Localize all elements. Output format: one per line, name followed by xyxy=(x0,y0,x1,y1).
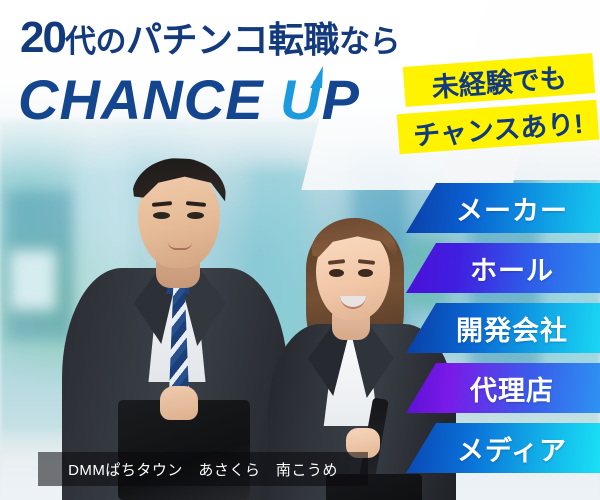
tag-label: 開発会社 xyxy=(456,309,568,348)
tag-label: メディア xyxy=(457,429,567,468)
logo-text-chance: CHANCE xyxy=(18,68,280,131)
chance-up-logo: CHANCE UP xyxy=(18,72,360,128)
background-shape xyxy=(10,250,56,310)
recruitment-banner[interactable]: 20代のパチンコ転職なら CHANCE UP 未経験でも チャンスあり! メーカ… xyxy=(0,0,600,500)
credit-text: DMMぱちタウン あさくら 南こうめ xyxy=(68,459,338,480)
eye-right xyxy=(187,212,204,219)
category-tag-list: メーカー ホール 開発会社 代理店 メディア xyxy=(406,183,600,483)
tag-agency[interactable]: 代理店 xyxy=(406,363,600,413)
businessman-photo xyxy=(60,150,290,500)
headline-suffix: 代の xyxy=(65,24,126,59)
tag-media[interactable]: メディア xyxy=(406,423,600,473)
logo-letter-u-wrap: U xyxy=(280,72,321,128)
logo-text-p: P xyxy=(322,68,360,131)
eye-right xyxy=(358,269,373,277)
tag-hall[interactable]: ホール xyxy=(406,243,600,293)
eye-left xyxy=(329,269,344,277)
headline: 20代のパチンコ転職なら xyxy=(20,16,400,60)
headline-kanji: 転職 xyxy=(268,19,339,60)
hand xyxy=(160,386,198,420)
headline-katakana: パチンコ xyxy=(126,19,268,60)
headline-number: 20 xyxy=(20,13,65,62)
tag-label: 代理店 xyxy=(470,369,554,408)
headline-tail: なら xyxy=(339,24,400,59)
tag-maker[interactable]: メーカー xyxy=(406,183,600,233)
credit-bar: DMMぱちタウン あさくら 南こうめ xyxy=(38,452,368,486)
tag-label: メーカー xyxy=(456,189,568,228)
eye-left xyxy=(153,212,170,219)
tag-label: ホール xyxy=(470,249,554,288)
tag-development-company[interactable]: 開発会社 xyxy=(406,303,600,353)
